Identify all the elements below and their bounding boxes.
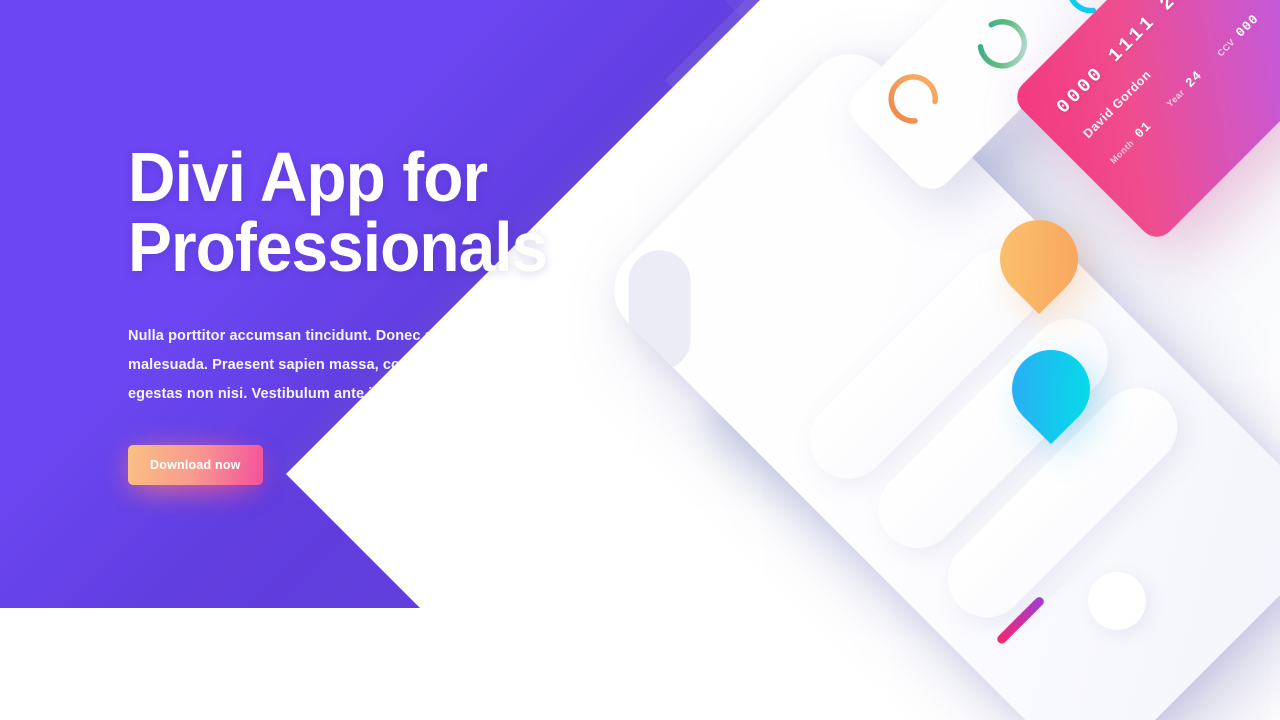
page-title: Divi App for Professionals	[128, 142, 654, 282]
ring-orange-icon	[869, 55, 957, 143]
avatar-placeholder	[1076, 560, 1158, 642]
hero-copy: Divi App for Professionals Nulla porttit…	[128, 142, 688, 485]
card-year: Year 24	[1163, 68, 1206, 111]
hero-subcopy: Nulla porttitor accumsan tincidunt. Done…	[128, 322, 628, 409]
card-ccv-label: CCV	[1215, 37, 1237, 59]
card-year-label: Year	[1165, 87, 1187, 109]
headline-line-2: Professionals	[128, 212, 654, 282]
card-ccv: CCV 000	[1213, 11, 1262, 60]
headline-line-1: Divi App for	[128, 142, 654, 212]
hero-screenshot: 0000 1111 2222 3333 David Gordon Month 0…	[0, 0, 1280, 720]
download-now-button[interactable]: Download now	[128, 445, 263, 485]
card-year-value: 24	[1182, 68, 1205, 91]
app-illustration: 0000 1111 2222 3333 David Gordon Month 0…	[640, 0, 1280, 720]
card-month: Month 01	[1106, 118, 1155, 167]
card-ccv-value: 000	[1233, 11, 1262, 40]
card-month-label: Month	[1108, 138, 1136, 166]
card-month-value: 01	[1132, 118, 1155, 141]
cta-wrapper: Download now	[128, 445, 263, 485]
